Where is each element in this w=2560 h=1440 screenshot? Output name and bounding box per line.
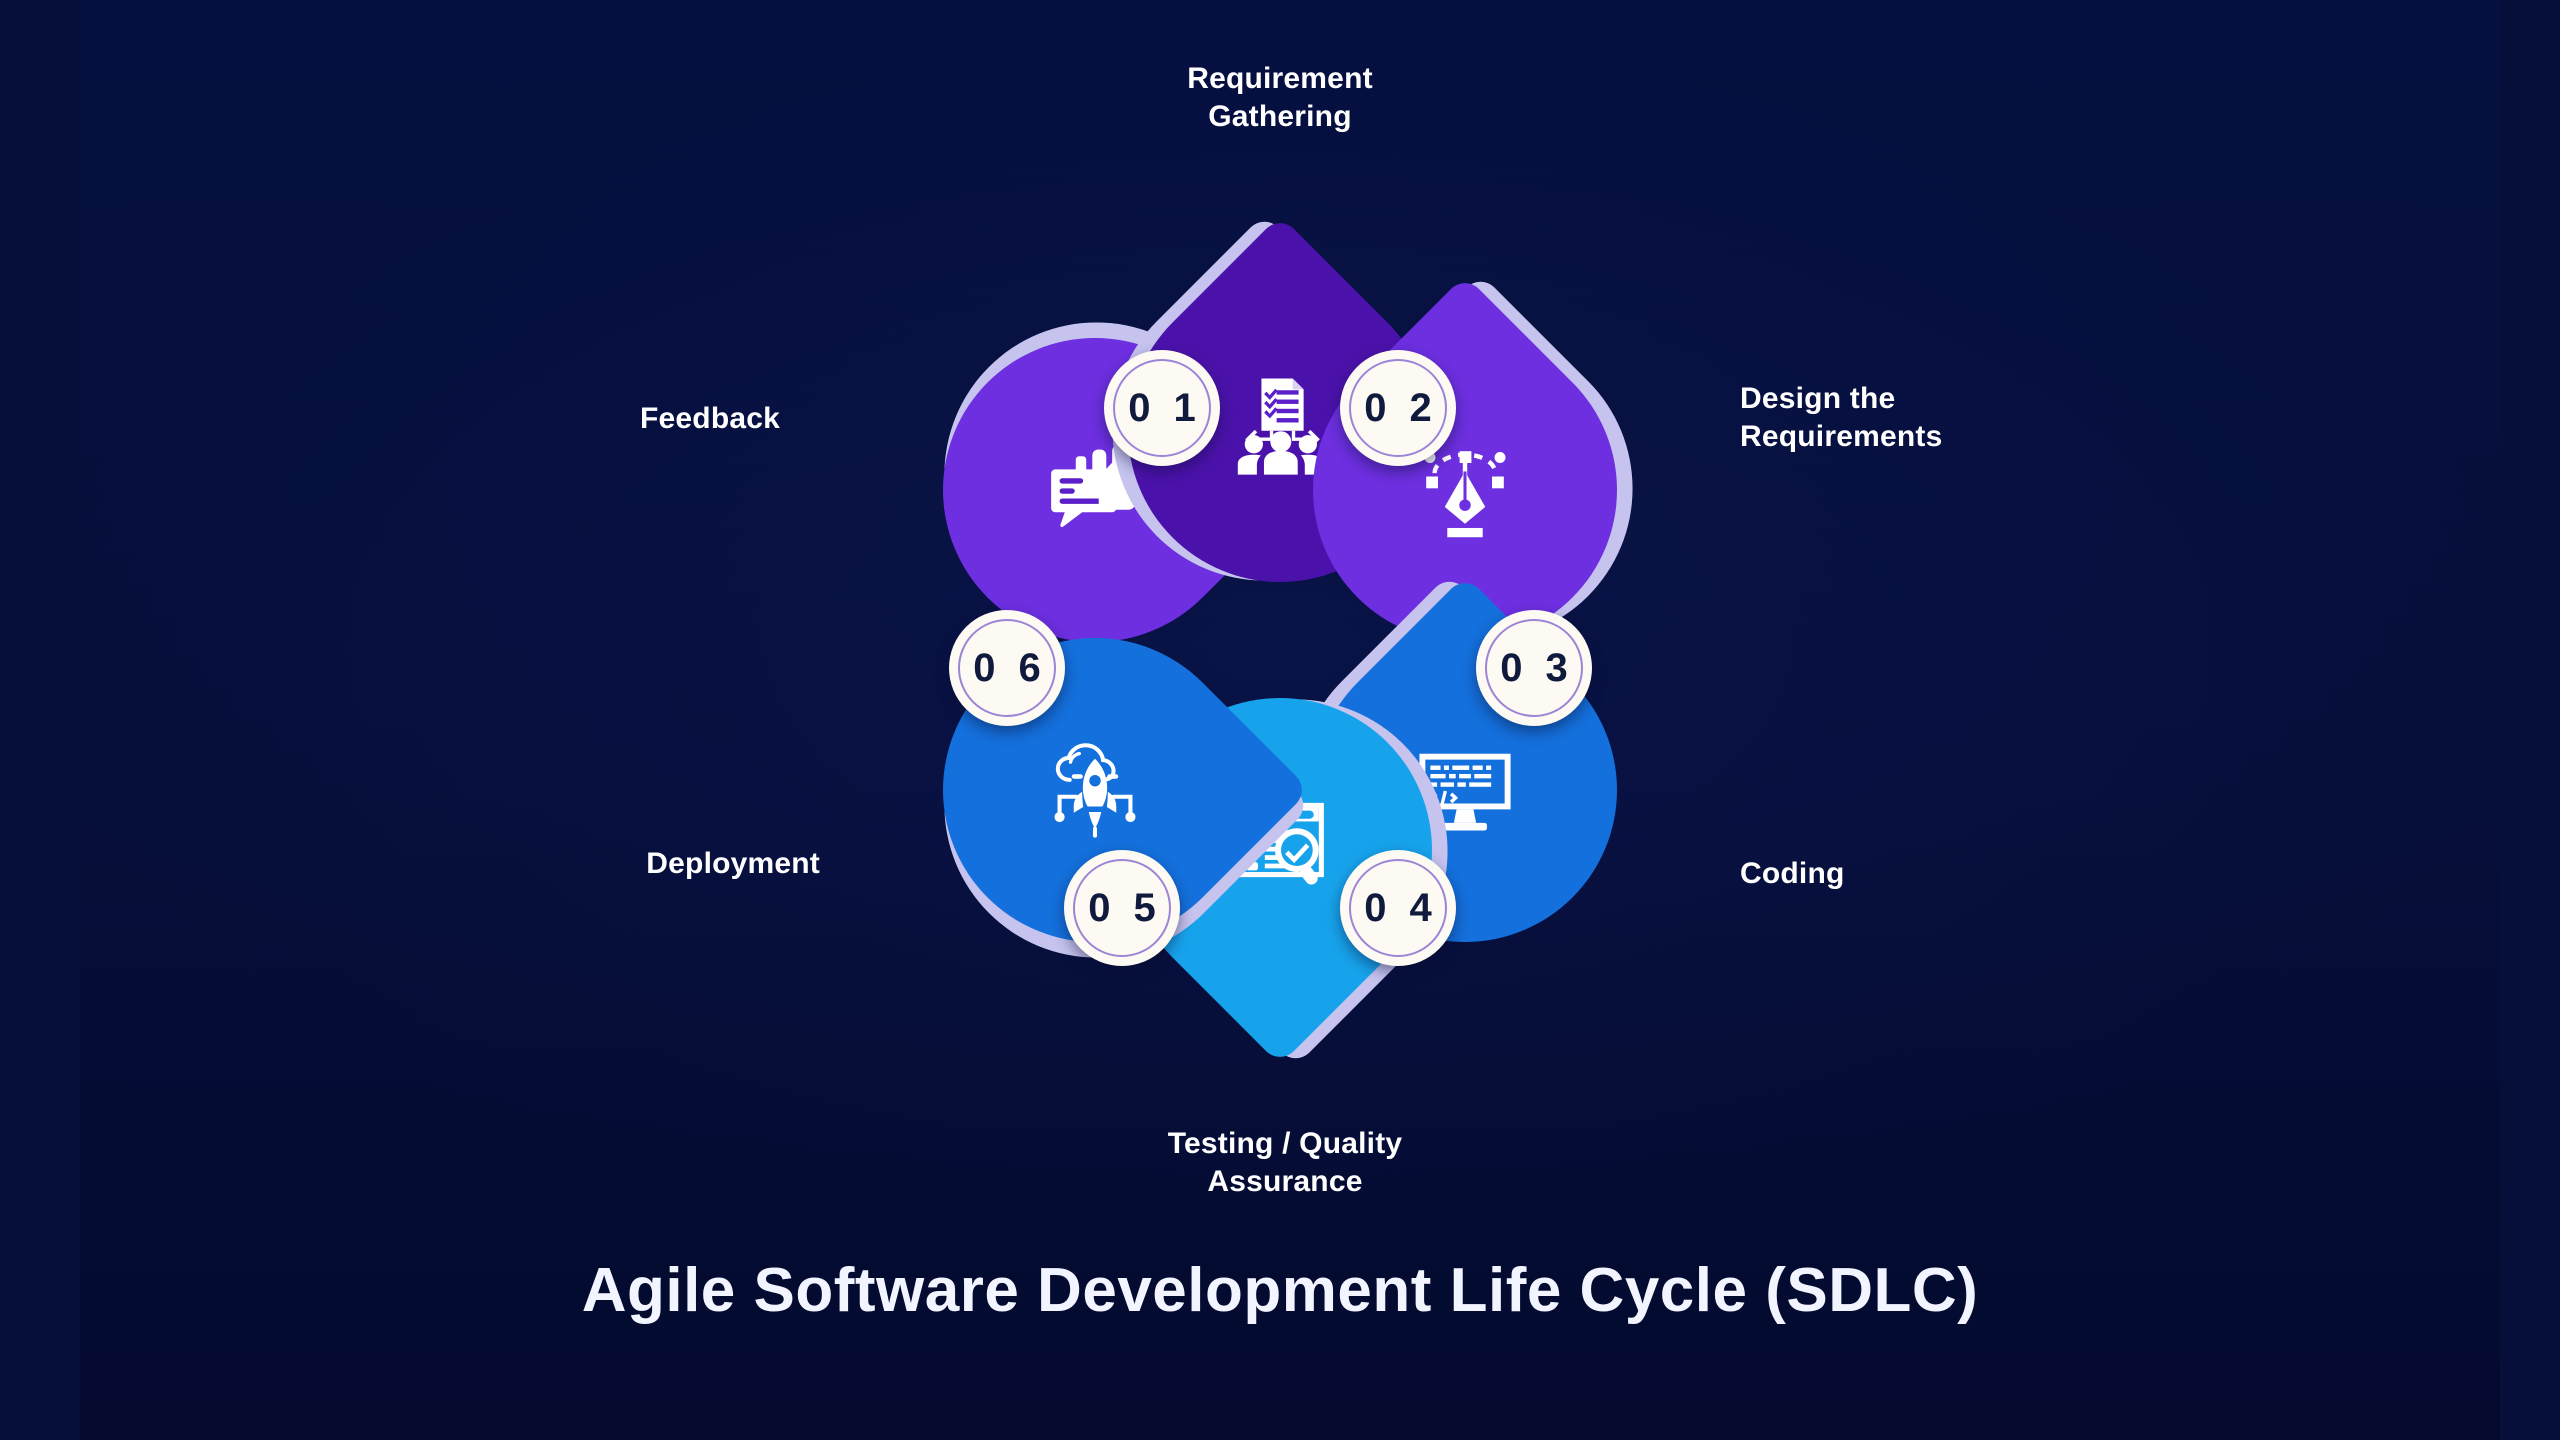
label-coding: Coding [1740, 855, 1845, 893]
badge-number: 0 3 [1494, 646, 1574, 691]
badge-number: 0 2 [1358, 386, 1438, 431]
label-feedback: Feedback [640, 400, 780, 438]
label-design-the-requirements: Design the Requirements [1740, 380, 1942, 457]
label-testing-quality-assurance: Testing / Quality Assurance [1168, 1125, 1403, 1202]
badge-number: 0 5 [1082, 886, 1162, 931]
label-deployment: Deployment [646, 845, 820, 883]
badge-number: 0 1 [1122, 386, 1202, 431]
label-requirement-gathering: Requirement Gathering [1187, 60, 1373, 137]
page-title: Agile Software Development Life Cycle (S… [582, 1255, 1979, 1326]
rocket-cloud-deployment-icon [1035, 730, 1155, 850]
sdlc-diagram: 0 1 0 2 0 3 0 4 0 5 [0, 0, 2560, 1440]
badge-number: 0 6 [967, 646, 1047, 691]
badge-number: 0 4 [1358, 886, 1438, 931]
